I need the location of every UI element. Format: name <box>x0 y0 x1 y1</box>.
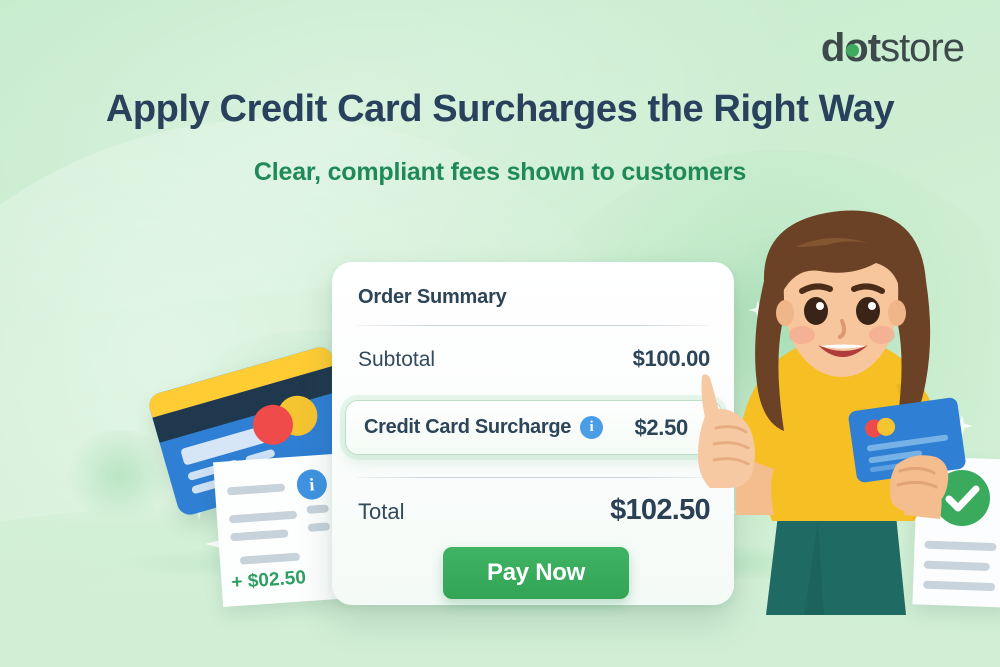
divider <box>357 477 709 478</box>
page-title: Apply Credit Card Surcharges the Right W… <box>0 88 1000 131</box>
logo-store-text: store <box>880 26 964 70</box>
receipt-surcharge-amount: + $02.50 <box>231 567 307 594</box>
receipt-line <box>229 511 297 524</box>
receipt-line <box>227 483 285 495</box>
receipt-line <box>230 529 288 541</box>
total-row: Total $102.50 <box>358 494 710 527</box>
subtotal-label: Subtotal <box>358 348 435 372</box>
total-value: $102.50 <box>610 494 710 527</box>
receipt-info-icon: i <box>296 469 328 501</box>
surcharge-label: Credit Card Surcharge <box>364 416 571 439</box>
subtotal-row: Subtotal $100.00 <box>358 346 710 372</box>
receipt-illustration: i + $02.50 <box>213 454 343 607</box>
surcharge-label-group: Credit Card Surcharge i <box>364 416 603 439</box>
receipt-line <box>308 522 331 532</box>
pointing-hand-illustration <box>676 368 762 488</box>
pay-now-button[interactable]: Pay Now <box>443 547 629 599</box>
brand-logo: dotstore <box>821 28 964 68</box>
order-summary-heading: Order Summary <box>358 286 507 309</box>
page-subtitle: Clear, compliant fees shown to customers <box>0 158 1000 187</box>
credit-card-surcharge-row[interactable]: Credit Card Surcharge i $2.50 <box>345 400 722 455</box>
logo-dot-circle-icon <box>846 44 859 57</box>
receipt-line <box>306 504 329 514</box>
poster-canvas: dotstore Apply Credit Card Surcharges th… <box>0 0 1000 667</box>
receipt-line <box>240 553 300 565</box>
info-icon[interactable]: i <box>580 416 603 439</box>
divider <box>357 325 709 326</box>
total-label: Total <box>358 499 404 525</box>
